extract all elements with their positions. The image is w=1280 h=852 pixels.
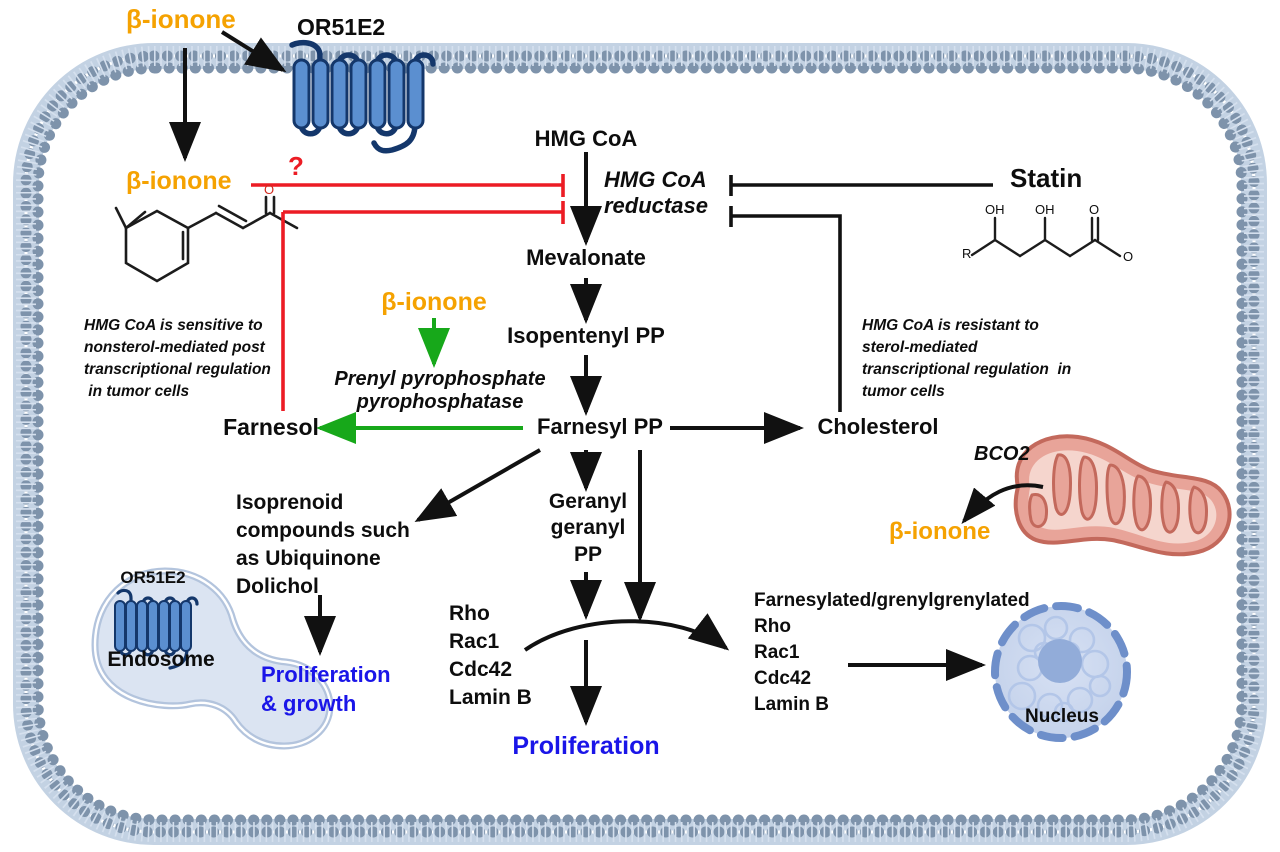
farnesyl-pp-label: Farnesyl PP [537, 414, 663, 440]
statin-oh-2-label: OH [1035, 202, 1055, 217]
beta-ionone-inside-label: β-ionone [126, 167, 232, 196]
statin-oh-1-label: OH [985, 202, 1005, 217]
geranylgeranyl-pp-label: Geranyl geranyl PP [549, 489, 627, 568]
proliferation-label: Proliferation [512, 732, 659, 761]
hmg-coa-label: HMG CoA [535, 126, 638, 152]
or51e2-endosome-label: OR51E2 [120, 568, 185, 588]
statin-carbonyl-o-label: O [1089, 202, 1099, 217]
prenyl-enzyme-label: Prenyl pyrophosphate pyrophosphatase [334, 368, 545, 414]
farnesylated-proteins-label: Farnesylated/grenylgrenylated Rho Rac1 C… [754, 588, 1030, 718]
arrow-prenylation-arc [525, 621, 726, 650]
mevalonate-label: Mevalonate [526, 245, 646, 271]
isopentenyl-pp-label: Isopentenyl PP [507, 323, 665, 349]
note-left-label: HMG CoA is sensitive to nonsterol-mediat… [84, 315, 271, 403]
isoprenoid-compounds-label: Isoprenoid compounds such as Ubiquinone … [236, 489, 410, 601]
hmg-coa-reductase-label: HMG CoA reductase [604, 167, 708, 218]
note-right-label: HMG CoA is resistant to sterol-mediated … [862, 315, 1071, 403]
cholesterol-label: Cholesterol [817, 414, 938, 440]
beta-ionone-mito-label: β-ionone [889, 518, 990, 546]
arrow-bco2-bionone [964, 485, 1043, 521]
statin-r-label: R [962, 246, 971, 261]
beta-ionone-outside-label: β-ionone [126, 4, 236, 34]
prenylation-targets-label: Rho Rac1 Cdc42 Lamin B [449, 600, 532, 712]
pathway-diagram: β-ionone OR51E2 ? β-ionone HMG CoA HMG C… [0, 0, 1280, 852]
or51e2-membrane-label: OR51E2 [297, 14, 385, 41]
arrow-fpp-isoprenoid [418, 450, 540, 520]
nucleus-label: Nucleus [1025, 706, 1099, 728]
farnesol-label: Farnesol [223, 414, 319, 441]
statin-label: Statin [1010, 163, 1082, 193]
arrow-bionone-to-or51e2 [222, 32, 283, 70]
bionone-oxygen-label: O [264, 182, 274, 197]
statin-carboxylate-o-label: O [1123, 249, 1133, 264]
question-mark-label: ? [288, 151, 304, 181]
beta-ionone-mid-label: β-ionone [381, 288, 487, 317]
bco2-label: BCO2 [974, 443, 1030, 466]
proliferation-growth-label: Proliferation & growth [261, 661, 391, 718]
endosome-label: Endosome [107, 648, 214, 672]
